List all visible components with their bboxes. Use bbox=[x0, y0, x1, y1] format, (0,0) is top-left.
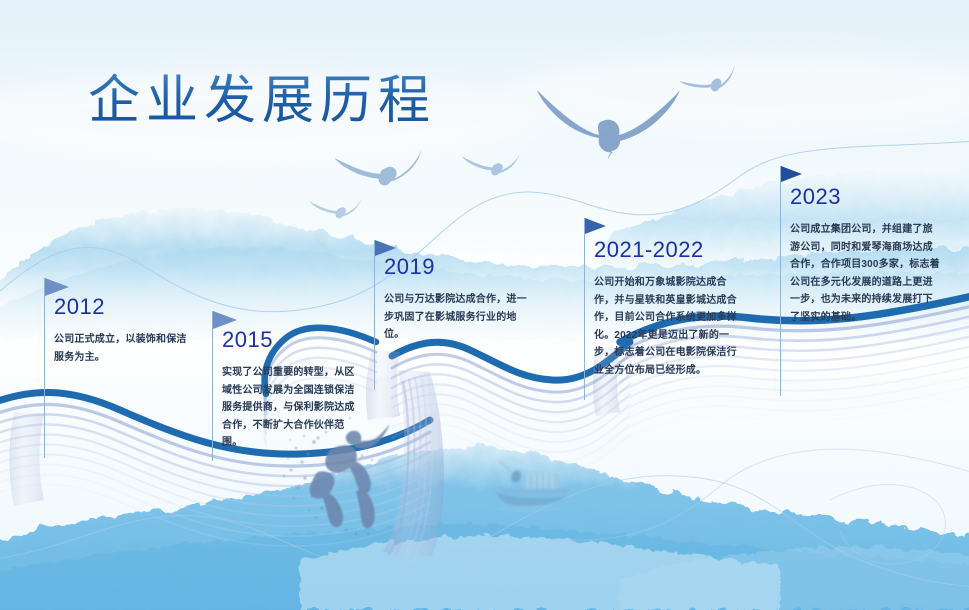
seagull-large-icon bbox=[537, 90, 680, 159]
flag-pole-2019 bbox=[374, 240, 375, 390]
mountain-bottom-right bbox=[620, 547, 969, 610]
mountain-bottom bbox=[0, 445, 969, 610]
milestone-text-2021-2022: 公司开始和万象城影院达成合作，并与星轶和英皇影城达成合作，目前公司合作系统更加多… bbox=[594, 274, 742, 379]
milestone-2019[interactable]: 2019 公司与万达影院达成合作，进一步巩固了在影城服务行业的地位。 bbox=[384, 256, 536, 344]
milestone-text-2023: 公司成立集团公司，并组建了旅游公司，同时和爱琴海商场达成合作，合作项目300多家… bbox=[790, 221, 940, 326]
flag-pole-2021 bbox=[584, 218, 585, 400]
fishing-boat-icon bbox=[496, 462, 570, 512]
ribbon-segment-left bbox=[0, 392, 430, 546]
milestone-year-2012: 2012 bbox=[54, 296, 194, 318]
flag-pole-2023 bbox=[780, 166, 781, 396]
milestone-2015[interactable]: 2015 实现了公司重要的转型，从区域性公司发展为全国连锁保洁服务提供商，与保利… bbox=[222, 329, 362, 452]
flag-pennant-icon-2021 bbox=[585, 218, 606, 234]
milestone-text-2019: 公司与万达影院达成合作，进一步巩固了在影城服务行业的地位。 bbox=[384, 291, 536, 344]
flag-pole-2015 bbox=[212, 311, 213, 461]
milestone-year-2023: 2023 bbox=[790, 186, 940, 208]
seagull-small-icon bbox=[462, 153, 520, 176]
milestone-text-2015: 实现了公司重要的转型，从区域性公司发展为全国连锁保洁服务提供商，与保利影院达成合… bbox=[222, 364, 362, 452]
infographic-canvas: 企业发展历程 2012 公司正式成立，以装饰和保洁服务为主。 2015 实现了公… bbox=[0, 0, 969, 610]
milestone-2021-2022[interactable]: 2021-2022 公司开始和万象城影院达成合作，并与星轶和英皇影城达成合作，目… bbox=[594, 239, 742, 379]
milestone-year-2019: 2019 bbox=[384, 256, 536, 278]
page-title: 企业发展历程 bbox=[88, 58, 436, 133]
seagull-tiny-left-icon bbox=[309, 198, 361, 219]
ribbon-segment-fold-left bbox=[383, 370, 444, 562]
milestone-2012[interactable]: 2012 公司正式成立，以装饰和保洁服务为主。 bbox=[54, 296, 194, 366]
seagull-medium-icon bbox=[334, 149, 421, 185]
flag-pole-2012 bbox=[44, 278, 45, 458]
milestone-year-2021-2022: 2021-2022 bbox=[594, 239, 742, 261]
ribbon-edge-left bbox=[0, 392, 430, 454]
milestone-text-2012: 公司正式成立，以装饰和保洁服务为主。 bbox=[54, 331, 194, 366]
flag-pennant-icon-2023 bbox=[781, 166, 802, 182]
seagull-tiny-right-icon bbox=[678, 63, 740, 99]
milestone-2023[interactable]: 2023 公司成立集团公司，并组建了旅游公司，同时和爱琴海商场达成合作，合作项目… bbox=[790, 186, 940, 326]
ribbon-segment-fold-far-left bbox=[10, 412, 45, 506]
milestone-year-2015: 2015 bbox=[222, 329, 362, 351]
